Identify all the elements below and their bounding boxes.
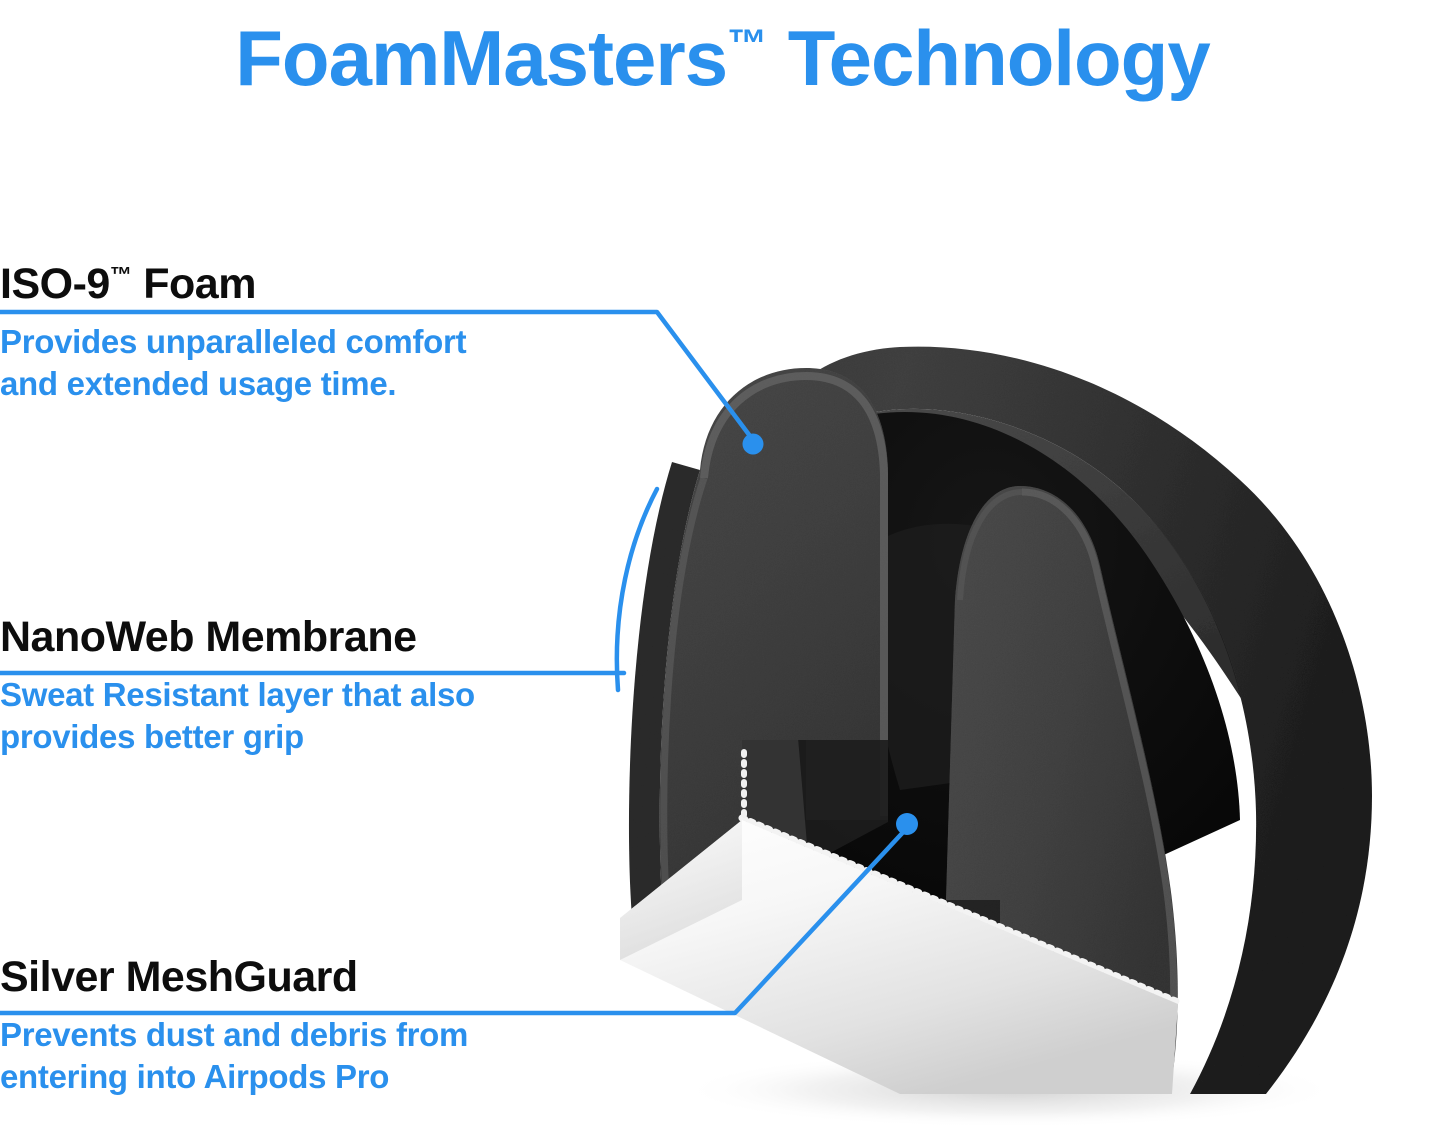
- product-shadow: [680, 1052, 1340, 1128]
- silver-meshguard: [742, 752, 1178, 1002]
- callout-iso9-heading: ISO-9™ Foam: [0, 250, 620, 309]
- callout-iso9-heading-suffix: Foam: [132, 260, 256, 308]
- trademark-symbol: ™: [110, 262, 132, 287]
- cut-face-left-rim-bottom: [664, 478, 704, 896]
- trademark-symbol: ™: [727, 22, 767, 66]
- callout-meshguard-body: Prevents dust and debris from entering i…: [0, 1014, 620, 1098]
- callout-meshguard: Silver MeshGuard Prevents dust and debri…: [0, 952, 620, 1098]
- foam-cut-face-left: [660, 368, 888, 900]
- callout-meshguard-heading: Silver MeshGuard: [0, 952, 620, 1002]
- leader-dot-meshguard: [896, 813, 918, 835]
- callout-iso9-body: Provides unparalleled comfort and extend…: [0, 321, 620, 405]
- callout-nanoweb-body-line-1: Sweat Resistant layer that also: [0, 674, 620, 716]
- cavity-core-highlight: [871, 524, 1120, 790]
- page-title: FoamMasters™ Technology: [0, 2, 1445, 100]
- foam-notch-shadow: [742, 740, 888, 900]
- callout-nanoweb-body-line-2: provides better grip: [0, 716, 620, 758]
- callout-iso9: ISO-9™ Foam Provides unparalleled comfor…: [0, 250, 620, 405]
- cut-face-right-rim-inner: [960, 492, 1022, 600]
- product-base-plane: [620, 820, 1178, 1094]
- cut-face-left-rim: [704, 376, 884, 816]
- foam-cut-face-right: [946, 486, 1178, 1094]
- callout-meshguard-body-line-2: entering into Airpods Pro: [0, 1056, 620, 1098]
- infographic-page: FoamMasters™ Technology: [0, 0, 1445, 1129]
- callout-iso9-body-line-2: and extended usage time.: [0, 363, 620, 405]
- page-title-suffix: Technology: [767, 14, 1210, 102]
- page-title-text: FoamMasters: [235, 14, 727, 102]
- foam-outer-skin-left: [629, 462, 700, 918]
- callout-nanoweb: NanoWeb Membrane Sweat Resistant layer t…: [0, 612, 620, 758]
- callout-nanoweb-heading: NanoWeb Membrane: [0, 612, 620, 662]
- foam-outer-dome: [760, 347, 1372, 1094]
- foam-notch-shadow-right: [946, 900, 1000, 1080]
- callout-iso9-heading-text: ISO-9: [0, 260, 110, 308]
- leader-curve-nanoweb: [617, 489, 657, 690]
- callout-meshguard-body-line-1: Prevents dust and debris from: [0, 1014, 620, 1056]
- callout-iso9-body-line-1: Provides unparalleled comfort: [0, 321, 620, 363]
- leader-dot-iso9: [743, 434, 764, 455]
- foam-inner-cavity: [783, 412, 1240, 930]
- meshguard-bead: [742, 818, 1178, 1002]
- cut-face-right-rim: [1022, 492, 1174, 1090]
- callout-nanoweb-body: Sweat Resistant layer that also provides…: [0, 674, 620, 758]
